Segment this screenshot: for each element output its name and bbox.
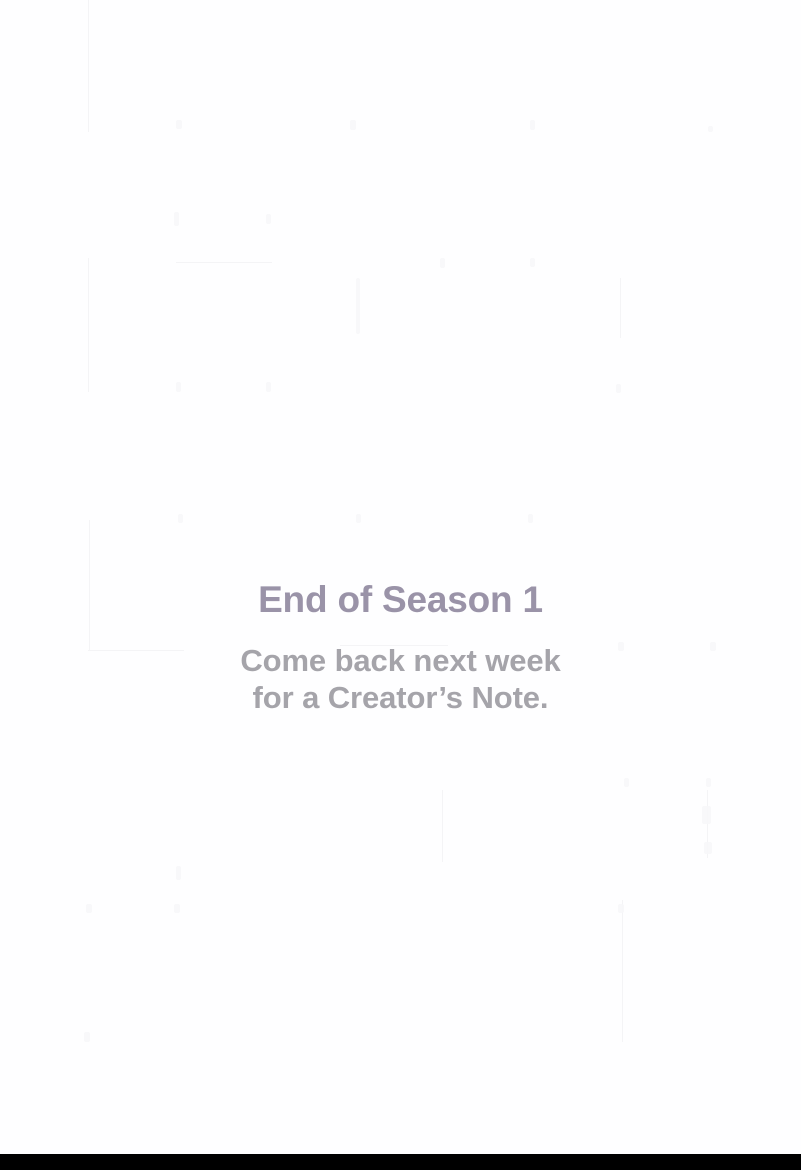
ghost-mark [176, 382, 181, 392]
ghost-mark [174, 904, 180, 913]
end-of-season-page: End of Season 1 Come back next week for … [0, 0, 801, 1170]
ghost-mark [174, 212, 179, 226]
ghost-line [620, 278, 621, 338]
ghost-mark [706, 778, 711, 787]
ghost-mark [530, 120, 535, 130]
ghost-line [707, 790, 708, 858]
ghost-mark [528, 514, 533, 523]
ghost-line [442, 790, 443, 862]
ghost-mark [176, 866, 181, 880]
ghost-mark [86, 904, 92, 913]
comeback-note: Come back next week for a Creator’s Note… [0, 622, 801, 716]
ghost-mark [616, 384, 621, 393]
ghost-mark [176, 120, 182, 129]
ghost-line [176, 262, 272, 263]
comeback-note-line-1: Come back next week [0, 642, 801, 679]
season-title: End of Season 1 [0, 578, 801, 622]
ghost-mark [350, 120, 356, 130]
ghost-mark [440, 258, 445, 268]
ghost-mark [178, 514, 183, 523]
ghost-mark [356, 278, 360, 334]
ghost-mark [266, 214, 271, 224]
ghost-mark [704, 842, 712, 854]
ghost-mark [266, 382, 271, 392]
ghost-line [88, 258, 89, 392]
end-of-season-message: End of Season 1 Come back next week for … [0, 578, 801, 716]
comeback-note-line-2: for a Creator’s Note. [0, 679, 801, 716]
ghost-mark [624, 778, 629, 787]
ghost-mark [618, 904, 624, 913]
ghost-line [88, 0, 89, 132]
ghost-mark [530, 258, 535, 267]
scanner-edge-bar [0, 1154, 801, 1170]
ghost-mark [702, 806, 711, 824]
ghost-mark [356, 514, 361, 523]
ghost-mark [84, 1032, 90, 1042]
ghost-mark [708, 126, 713, 132]
ghost-line [622, 900, 623, 1042]
